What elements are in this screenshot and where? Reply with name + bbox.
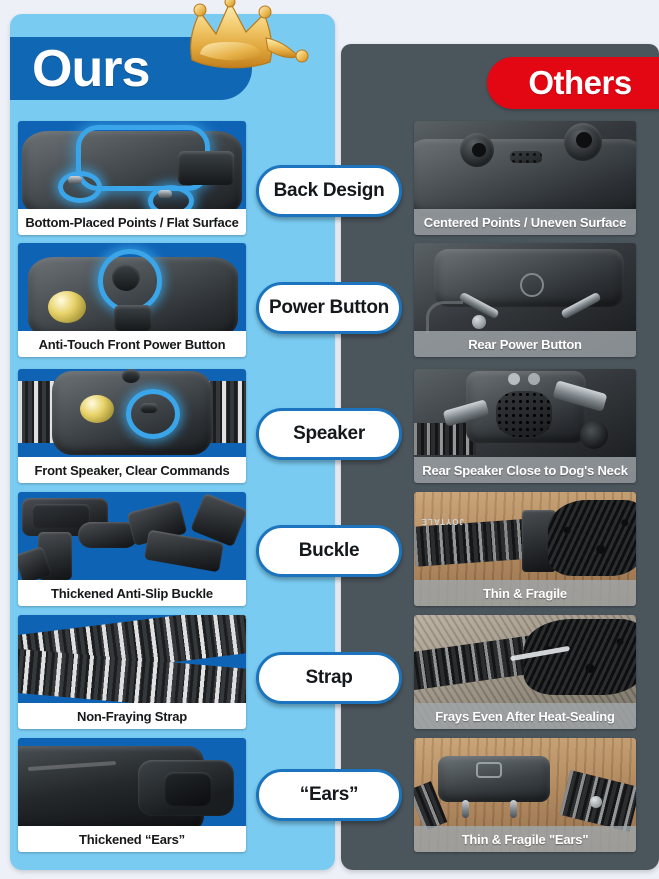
feature-label-back-design: Back Design xyxy=(274,180,385,202)
feature-label-ears: “Ears” xyxy=(300,784,358,806)
feature-pill-buckle[interactable]: Buckle xyxy=(256,525,402,577)
others-caption-strap: Frays Even After Heat-Sealing xyxy=(414,703,636,729)
feature-pill-speaker[interactable]: Speaker xyxy=(256,408,402,460)
ours-card-strap: Non-Fraying Strap xyxy=(18,615,246,729)
feature-pill-power-button[interactable]: Power Button xyxy=(256,282,402,334)
others-card-buckle: JOYTALE Thin & Fragile xyxy=(414,492,636,606)
others-caption-speaker: Rear Speaker Close to Dog's Neck xyxy=(414,457,636,483)
feature-label-buckle: Buckle xyxy=(299,540,360,562)
others-title-badge: Others xyxy=(487,57,659,109)
others-card-strap: Frays Even After Heat-Sealing xyxy=(414,615,636,729)
ours-card-buckle: Thickened Anti-Slip Buckle xyxy=(18,492,246,606)
others-card-power-button: Rear Power Button xyxy=(414,243,636,357)
others-caption-power-button: Rear Power Button xyxy=(414,331,636,357)
ours-card-back-design: Bottom-Placed Points / Flat Surface xyxy=(18,121,246,235)
feature-label-power-button: Power Button xyxy=(269,297,389,319)
feature-pill-strap[interactable]: Strap xyxy=(256,652,402,704)
others-caption-buckle: Thin & Fragile xyxy=(414,580,636,606)
others-caption-back-design: Centered Points / Uneven Surface xyxy=(414,209,636,235)
ours-caption-speaker: Front Speaker, Clear Commands xyxy=(18,457,246,483)
ours-caption-ears: Thickened “Ears” xyxy=(18,826,246,852)
others-card-ears: Thin & Fragile "Ears" xyxy=(414,738,636,852)
ours-card-ears: Thickened “Ears” xyxy=(18,738,246,852)
ours-caption-strap: Non-Fraying Strap xyxy=(18,703,246,729)
feature-label-speaker: Speaker xyxy=(293,423,365,445)
others-card-back-design: Centered Points / Uneven Surface xyxy=(414,121,636,235)
ours-card-power-button: Anti-Touch Front Power Button xyxy=(18,243,246,357)
ours-caption-power-button: Anti-Touch Front Power Button xyxy=(18,331,246,357)
crown-icon xyxy=(178,0,310,76)
feature-pill-back-design[interactable]: Back Design xyxy=(256,165,402,217)
ours-caption-buckle: Thickened Anti-Slip Buckle xyxy=(18,580,246,606)
feature-label-strap: Strap xyxy=(305,667,352,689)
others-title: Others xyxy=(514,64,631,102)
feature-pill-ears[interactable]: “Ears” xyxy=(256,769,402,821)
comparison-chart: Ours Others xyxy=(0,0,659,879)
ours-caption-back-design: Bottom-Placed Points / Flat Surface xyxy=(18,209,246,235)
others-caption-ears: Thin & Fragile "Ears" xyxy=(414,826,636,852)
others-card-speaker: Rear Speaker Close to Dog's Neck xyxy=(414,369,636,483)
ours-card-speaker: Front Speaker, Clear Commands xyxy=(18,369,246,483)
